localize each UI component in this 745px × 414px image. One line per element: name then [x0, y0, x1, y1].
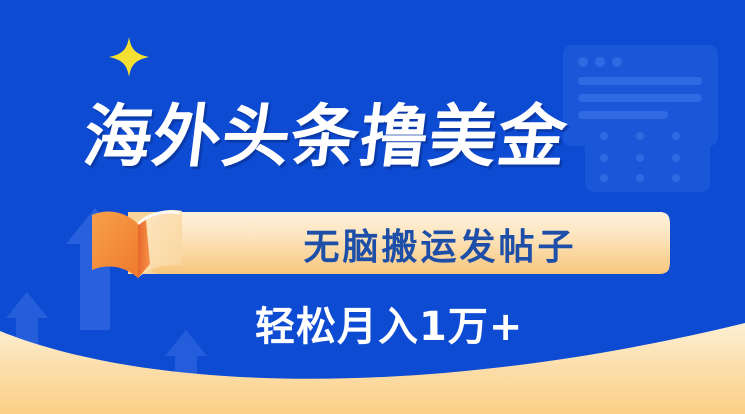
open-book-icon [86, 204, 190, 290]
subtitle-text: 无脑搬运发帖子 [240, 208, 640, 280]
four-point-star-icon [108, 36, 150, 78]
promo-poster: 海外头条撸美金 无脑搬运发帖子 [0, 0, 745, 414]
page-title: 海外头条撸美金 [79, 97, 674, 179]
subtitle-ribbon: 无脑搬运发帖子 [120, 208, 680, 280]
tagline-text: 轻松月入1万+ [255, 303, 555, 351]
